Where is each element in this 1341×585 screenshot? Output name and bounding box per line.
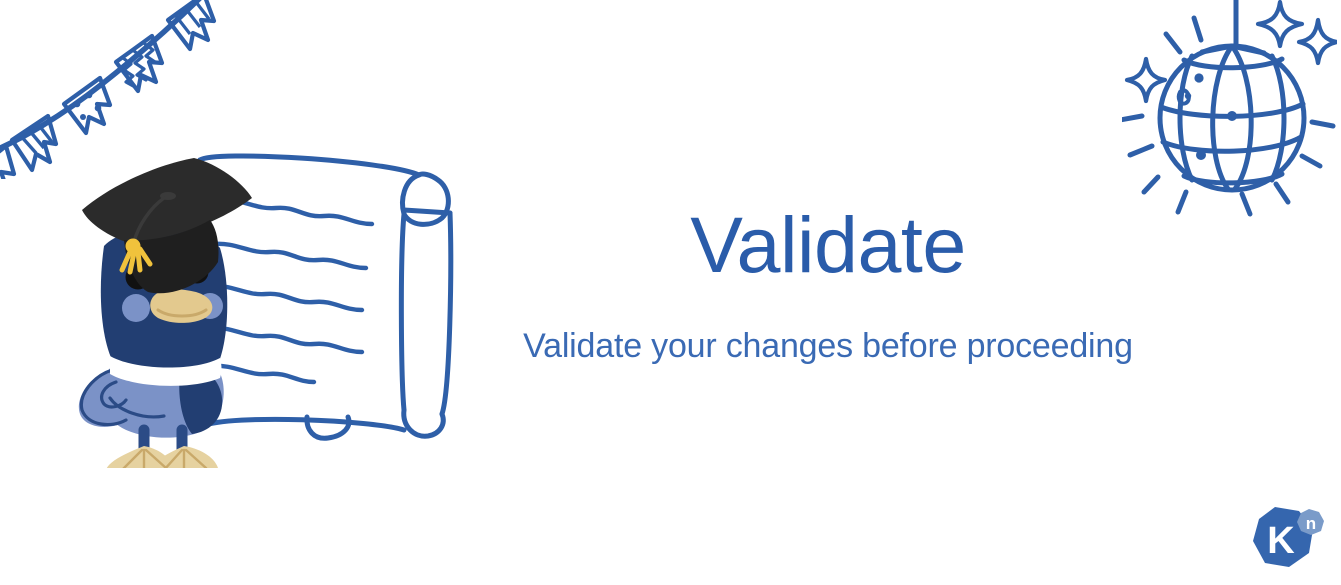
page-subtitle: Validate your changes before proceeding xyxy=(466,327,1190,366)
party-bunting-decoration xyxy=(0,0,232,179)
disco-ball-icon xyxy=(1122,0,1337,221)
page-title: Validate xyxy=(466,205,1190,284)
logo-letter-k: K xyxy=(1267,520,1295,562)
graduate-bird-mascot-icon xyxy=(79,158,252,468)
bunting-icon xyxy=(0,0,232,179)
brand-logo[interactable]: K n xyxy=(1245,501,1329,577)
slide-canvas: Validate Validate your changes before pr… xyxy=(0,0,1341,585)
disco-ball-decoration xyxy=(1122,0,1337,221)
scroll-document-icon xyxy=(192,156,451,438)
hero-illustration xyxy=(52,138,462,468)
logo-letter-n: n xyxy=(1306,514,1316,533)
hero-text-block: Validate Validate your changes before pr… xyxy=(466,205,1190,366)
